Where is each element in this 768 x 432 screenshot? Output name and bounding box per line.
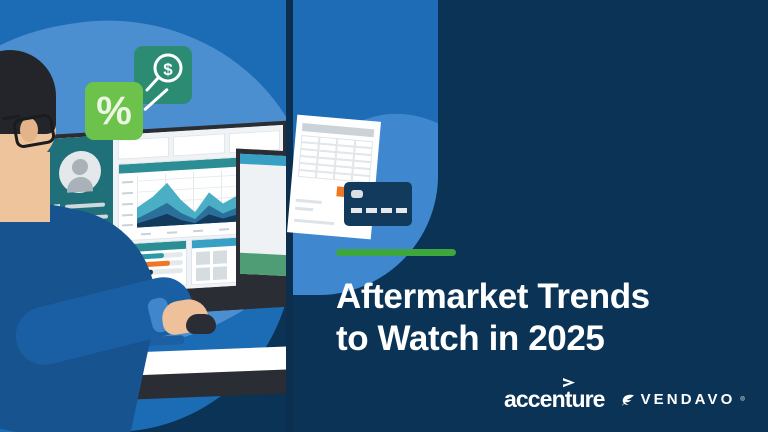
grid-tile bbox=[196, 283, 210, 285]
secondary-screen-panel bbox=[240, 253, 292, 277]
vendavo-trademark: ® bbox=[740, 397, 744, 403]
y-tick-label bbox=[122, 192, 133, 195]
accent-bar bbox=[336, 249, 456, 256]
hero-illustration: $ % bbox=[0, 0, 293, 432]
vendavo-logo: VENDAVO ® bbox=[620, 392, 745, 408]
x-tick-label bbox=[193, 230, 203, 233]
slide-canvas: $ % bbox=[0, 0, 768, 432]
x-tick-label bbox=[167, 231, 177, 234]
kpi-tile bbox=[173, 133, 224, 156]
invoice-text-line bbox=[295, 207, 313, 212]
percent-card: % bbox=[85, 82, 143, 140]
percent-symbol: % bbox=[96, 91, 132, 131]
illustration-blue-panel: $ % bbox=[0, 0, 293, 432]
y-tick-label bbox=[122, 203, 133, 206]
grid-tile bbox=[213, 250, 227, 264]
grid-tile bbox=[196, 267, 210, 281]
accenture-logo: accenture bbox=[504, 388, 605, 411]
y-tick-label bbox=[122, 224, 133, 227]
title-content-area: Aftermarket Trends to Watch in 2025 acce… bbox=[336, 0, 768, 432]
x-tick-label bbox=[219, 228, 229, 231]
svg-text:$: $ bbox=[163, 60, 173, 79]
grid-tile bbox=[196, 251, 210, 265]
logo-row: accenture VENDAVO ® bbox=[504, 388, 745, 411]
vendavo-wordmark: VENDAVO bbox=[641, 392, 736, 407]
computer-mouse bbox=[186, 314, 216, 334]
y-tick-label bbox=[122, 181, 133, 184]
table-cell bbox=[316, 171, 335, 180]
avatar bbox=[59, 150, 101, 194]
accenture-arrow-icon bbox=[563, 378, 576, 388]
invoice-text-line bbox=[294, 219, 334, 225]
table-cell bbox=[298, 170, 317, 179]
grid-tile bbox=[213, 282, 227, 285]
title-line-1: Aftermarket Trends bbox=[336, 276, 736, 318]
title-line-2: to Watch in 2025 bbox=[336, 318, 736, 360]
grid-tile bbox=[213, 266, 227, 280]
kpi-tile bbox=[118, 137, 169, 160]
x-tick-label bbox=[141, 233, 151, 236]
page-title: Aftermarket Trends to Watch in 2025 bbox=[336, 276, 736, 360]
vendavo-leaf-icon bbox=[620, 392, 636, 408]
y-tick-label bbox=[122, 214, 133, 217]
invoice-text-line bbox=[296, 199, 322, 204]
secondary-monitor bbox=[236, 148, 293, 301]
accenture-wordmark: accenture bbox=[504, 386, 605, 412]
